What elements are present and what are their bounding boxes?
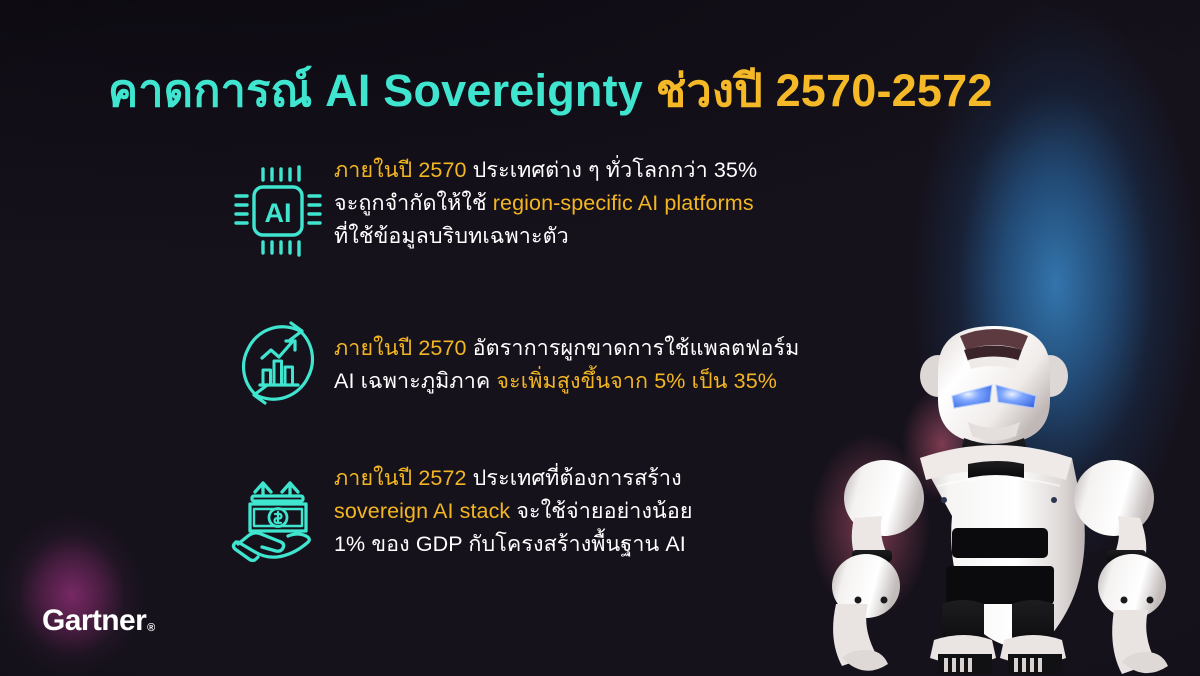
page-title: คาดการณ์ AI Sovereignty ช่วงปี 2570-2572: [108, 66, 993, 116]
page-title-gold-segment: ช่วงปี 2570-2572: [656, 65, 993, 116]
registered-trademark-symbol: ®: [147, 622, 155, 634]
growth-cycle-chart-icon: [222, 306, 334, 418]
bullet-2-line-2-highlight: จะเพิ่มสูงขึ้นจาก 5% เป็น 35%: [496, 369, 777, 393]
bullet-text-2: ภายในปี 2570 อัตราการผูกขาดการใช้แพลตฟอร…: [334, 306, 942, 398]
bullet-1-line-2-plain: จะถูกจำกัดให้ใช้: [334, 191, 493, 215]
bullet-2-line-2-plain: AI เฉพาะภูมิภาค: [334, 369, 496, 393]
bullet-1-line-3-plain: ที่ใช้ข้อมูลบริบทเฉพาะตัว: [334, 224, 569, 248]
bullet-3-line-2-plain: จะใช้จ่ายอย่างน้อย: [516, 499, 692, 523]
ai-chip-icon: AI: [222, 150, 334, 268]
bullet-text-3: ภายในปี 2572 ประเทศที่ต้องการสร้าง sover…: [334, 452, 942, 561]
bullet-item-1: AI ภายในปี 2570 ประเทศต่าง ๆ ทั่วโลกกว่า…: [222, 150, 942, 268]
svg-text:AI: AI: [265, 198, 292, 228]
bullet-1-line-1-plain: ประเทศต่าง ๆ ทั่วโลกกว่า 35%: [473, 158, 758, 182]
bullet-1-line-1-highlight: ภายในปี 2570: [334, 158, 473, 182]
bullet-3-line-1-highlight: ภายในปี 2572: [334, 466, 473, 490]
bullet-3-line-3-plain: 1% ของ GDP กับโครงสร้างพื้นฐาน AI: [334, 532, 686, 556]
bullet-3-line-2-highlight: sovereign AI stack: [334, 499, 516, 523]
gartner-logo: Gartner ®: [42, 604, 155, 638]
bullet-3-line-1-plain: ประเทศที่ต้องการสร้าง: [473, 466, 682, 490]
bullet-text-1: ภายในปี 2570 ประเทศต่าง ๆ ทั่วโลกกว่า 35…: [334, 150, 942, 253]
bullet-2-line-1-plain: อัตราการผูกขาดการใช้แพลตฟอร์ม: [473, 336, 800, 360]
bullet-item-3: ภายในปี 2572 ประเทศที่ต้องการสร้าง sover…: [222, 452, 942, 570]
gartner-logo-text: Gartner: [42, 604, 146, 638]
bullet-1-line-2-highlight: region-specific AI platforms: [493, 191, 754, 215]
bullet-list: AI ภายในปี 2570 ประเทศต่าง ๆ ทั่วโลกกว่า…: [222, 150, 942, 570]
hand-money-investment-icon: [222, 452, 334, 570]
page-title-teal-segment: คาดการณ์ AI Sovereignty: [108, 65, 643, 116]
bullet-item-2: ภายในปี 2570 อัตราการผูกขาดการใช้แพลตฟอร…: [222, 306, 942, 418]
infographic-canvas: คาดการณ์ AI Sovereignty ช่วงปี 2570-2572…: [0, 0, 1200, 676]
bullet-2-line-1-highlight: ภายในปี 2570: [334, 336, 473, 360]
